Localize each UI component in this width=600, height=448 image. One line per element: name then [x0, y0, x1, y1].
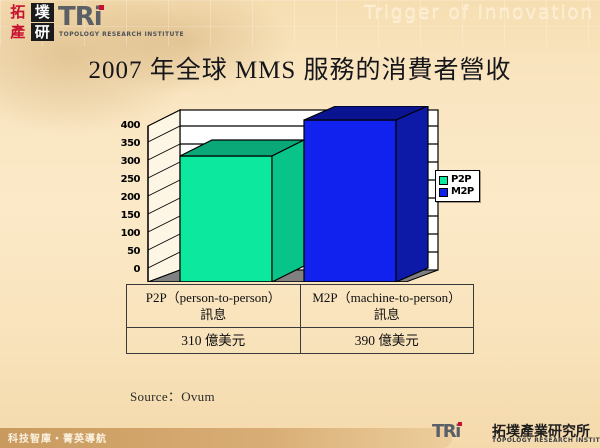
bar-m2p-side	[396, 106, 428, 282]
bar-p2p-front	[180, 156, 272, 282]
page-title: 2007 年全球 MMS 服務的消費者營收	[0, 50, 600, 86]
bar-m2p-front	[304, 120, 396, 282]
header-logo: 拓 墣 產 研 TRi TOPOLOGY RESEARCH INSTITUTE	[6, 3, 166, 43]
footer-tri-dot-icon	[458, 422, 462, 426]
footer-slogan: 科技智庫・菁英導航	[8, 430, 107, 445]
table-cell-p2p-value: 310 億美元	[127, 328, 301, 354]
table-header-p2p-line2: 訊息	[200, 307, 226, 322]
data-table: P2P（person-to-person） 訊息 M2P（machine-to-…	[126, 284, 474, 354]
footer-institute-subtitle: TOPOLOGY RESEARCH INSTITUTE	[492, 437, 600, 444]
legend-item-p2p: P2P	[439, 174, 474, 186]
legend-label-m2p: M2P	[451, 186, 474, 198]
footer-tri-wordmark-text: TRi	[432, 421, 460, 442]
legend-label-p2p: P2P	[451, 174, 471, 186]
seal-char-3: 產	[6, 23, 30, 42]
footer-tri-wordmark: TRi	[432, 422, 462, 441]
source-note: Source：Ovum	[130, 386, 215, 405]
slide-header: Trigger of Innovation 拓 墣 產 研 TRi TOPOLO…	[0, 0, 600, 46]
table-header-m2p: M2P（machine-to-person） 訊息	[300, 285, 474, 328]
tri-subtitle: TOPOLOGY RESEARCH INSTITUTE	[59, 31, 184, 38]
bar-p2p-side	[272, 140, 304, 282]
chart-side-wall	[148, 110, 180, 282]
table-header-m2p-line1: M2P（machine-to-person）	[312, 290, 461, 305]
legend-swatch-m2p-icon	[439, 188, 448, 197]
chart-legend: P2P M2P	[435, 170, 480, 202]
slide-footer: 科技智庫・菁英導航 TRi 拓墣產業研究所 TOPOLOGY RESEARCH …	[0, 420, 600, 448]
slide: Trigger of Innovation 拓 墣 產 研 TRi TOPOLO…	[0, 0, 600, 448]
tri-seal-icon: 拓 墣 產 研	[6, 3, 54, 41]
tri-wordmark: TRi	[58, 4, 104, 30]
legend-swatch-p2p-icon	[439, 176, 448, 185]
table-row-values: 310 億美元 390 億美元	[127, 328, 474, 354]
table-header-m2p-line2: 訊息	[374, 307, 400, 322]
table-row-header: P2P（person-to-person） 訊息 M2P（machine-to-…	[127, 285, 474, 328]
seal-char-4: 研	[31, 23, 55, 42]
table-header-p2p-line1: P2P（person-to-person）	[146, 290, 281, 305]
table-cell-m2p-value: 390 億美元	[300, 328, 474, 354]
tri-dot-icon	[99, 5, 104, 10]
bar-chart: 400 350 300 250 200 150 100 50 0	[108, 106, 498, 282]
header-tagline: Trigger of Innovation	[364, 1, 594, 23]
legend-item-m2p: M2P	[439, 186, 474, 198]
table-header-p2p: P2P（person-to-person） 訊息	[127, 285, 301, 328]
seal-char-2: 墣	[31, 3, 55, 22]
seal-char-1: 拓	[6, 3, 30, 22]
footer-logo: TRi 拓墣產業研究所 TOPOLOGY RESEARCH INSTITUTE	[432, 422, 594, 446]
tri-wordmark-text: TRi	[58, 2, 102, 32]
